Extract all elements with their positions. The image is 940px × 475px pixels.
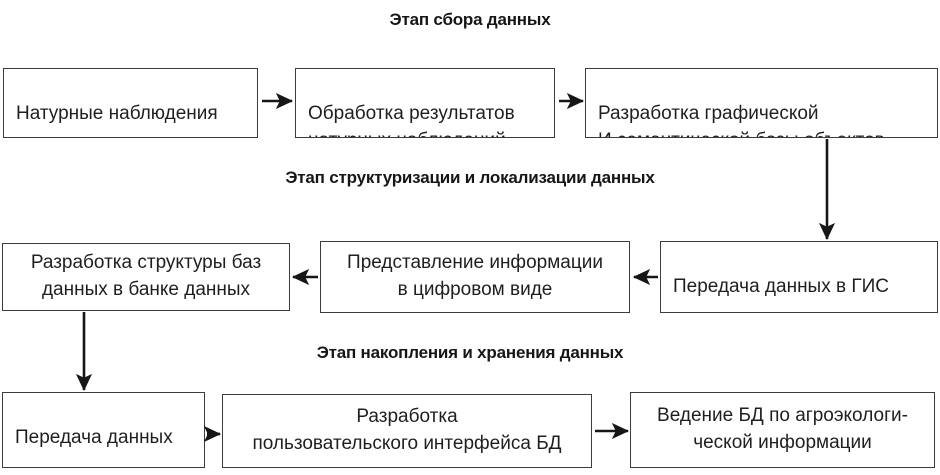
node-data-transfer-label: Передача данных bbox=[15, 425, 204, 452]
node-transfer-to-gis[interactable]: Передача данных в ГИС bbox=[660, 241, 938, 313]
node-field-observations[interactable]: Натурные наблюдения bbox=[3, 68, 258, 138]
node-digital-representation[interactable]: Представление информации в цифровом виде bbox=[320, 241, 630, 313]
flowchart-canvas: Этап сбора данных Этап структуризации и … bbox=[0, 0, 940, 475]
stage-title-collection: Этап сбора данных bbox=[0, 10, 940, 30]
node-processing-results[interactable]: Обработка результатов натурных наблюдени… bbox=[295, 68, 555, 138]
node-db-maintenance-label: Ведение БД по агроэкологи- ческой информ… bbox=[631, 403, 934, 457]
node-graphic-semantic-base[interactable]: Разработка графической И семантической б… bbox=[585, 68, 938, 138]
node-processing-results-label: Обработка результатов натурных наблюдени… bbox=[308, 101, 554, 138]
node-db-structure[interactable]: Разработка структуры баз данных в банке … bbox=[2, 243, 290, 311]
node-graphic-semantic-base-label: Разработка графической И семантической б… bbox=[598, 101, 937, 138]
node-data-transfer[interactable]: Передача данных bbox=[2, 392, 205, 468]
node-ui-development-label: Разработка пользовательского интерфейса … bbox=[223, 404, 591, 458]
node-field-observations-label: Натурные наблюдения bbox=[16, 101, 257, 128]
node-db-structure-label: Разработка структуры баз данных в банке … bbox=[3, 250, 289, 304]
node-ui-development[interactable]: Разработка пользовательского интерфейса … bbox=[222, 394, 592, 468]
node-db-maintenance[interactable]: Ведение БД по агроэкологи- ческой информ… bbox=[630, 392, 935, 468]
node-digital-representation-label: Представление информации в цифровом виде bbox=[321, 250, 629, 304]
node-transfer-to-gis-label: Передача данных в ГИС bbox=[673, 274, 937, 301]
stage-title-structuring: Этап структуризации и локализации данных bbox=[0, 168, 940, 188]
stage-title-accumulation: Этап накопления и хранения данных bbox=[0, 343, 940, 363]
